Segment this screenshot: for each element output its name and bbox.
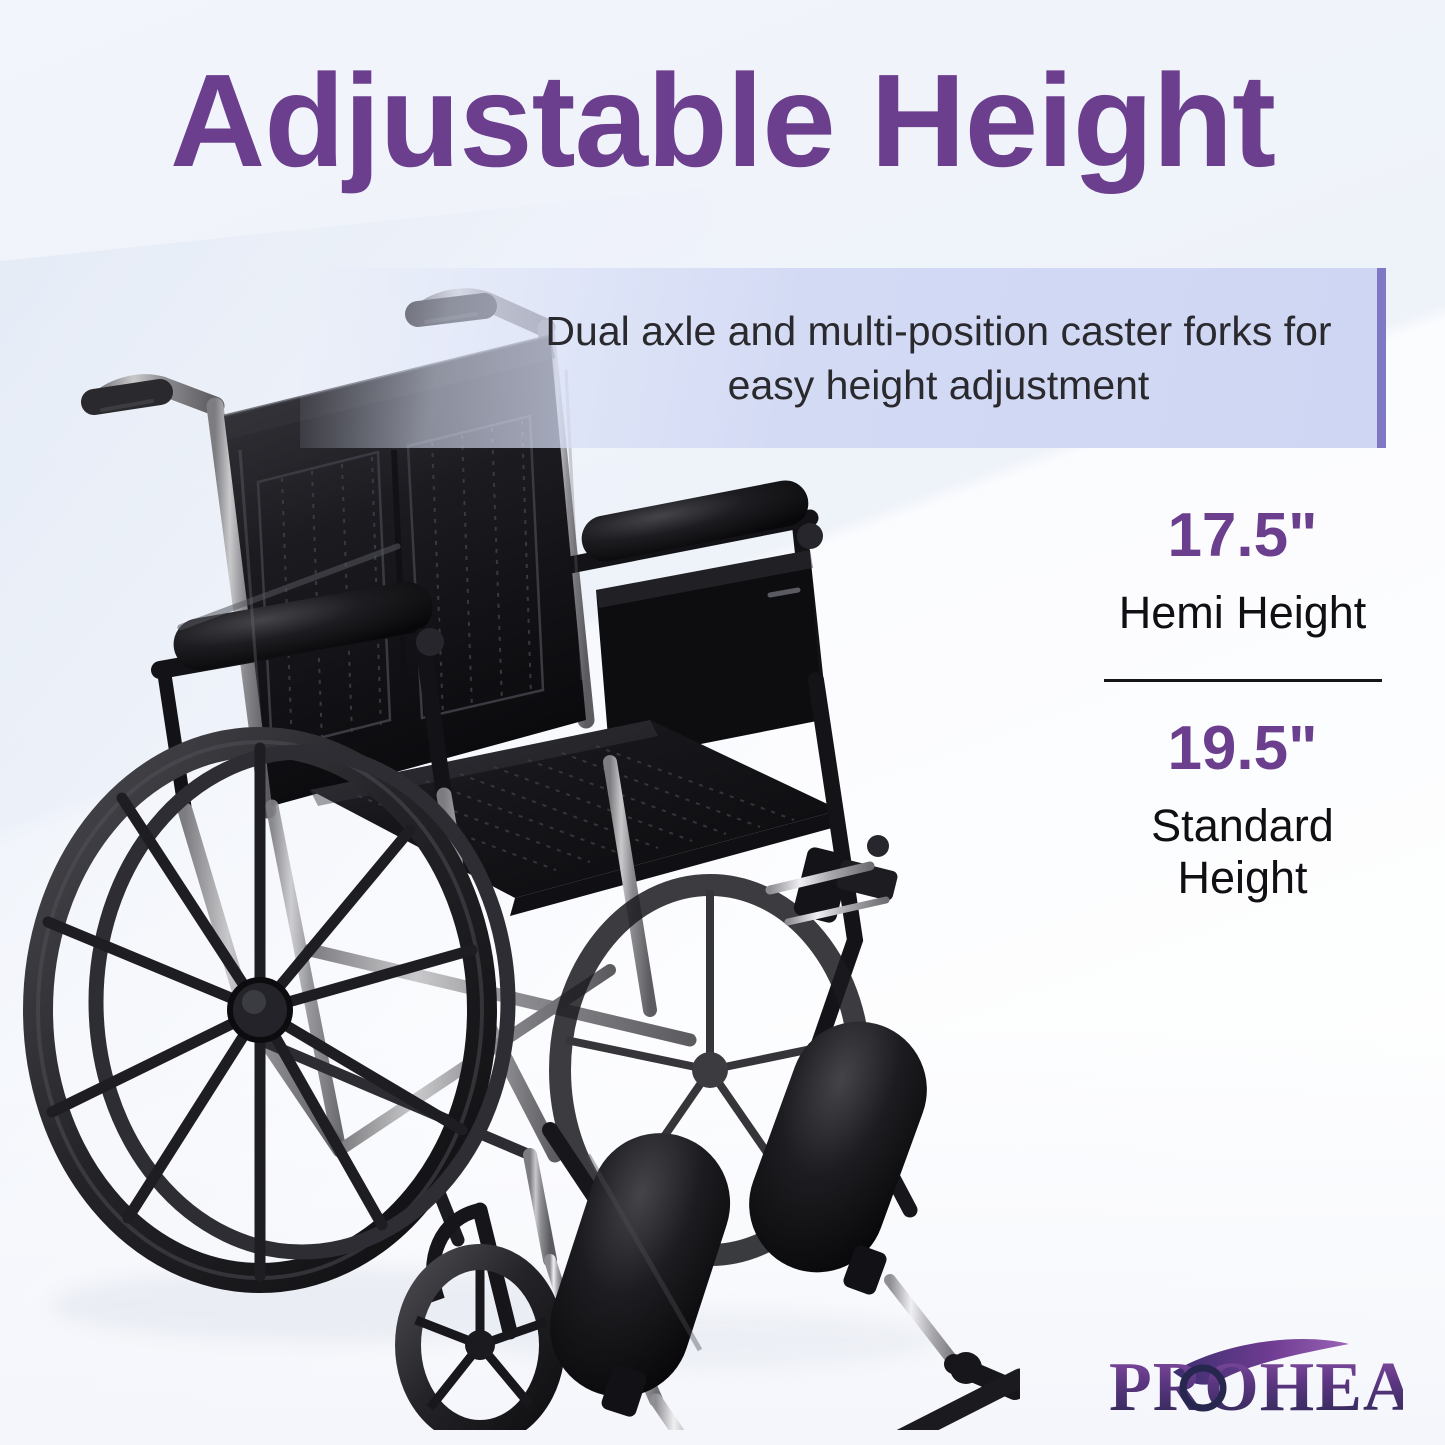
feature-banner-text: Dual axle and multi-position caster fork… [524, 304, 1354, 412]
armrest-right [570, 476, 823, 762]
spec-value-standard: 19.5" [1070, 718, 1415, 780]
push-handle-left [94, 384, 215, 410]
proheal-logo-svg: PROHEAL [1103, 1336, 1403, 1428]
brand-logo: PROHEAL [1103, 1336, 1403, 1428]
logo-wordmark: PROHEAL [1109, 1349, 1403, 1426]
spec-item-standard: 19.5" Standard Height [1070, 718, 1415, 904]
spec-label-hemi: Hemi Height [1070, 587, 1415, 639]
spec-list: 17.5" Hemi Height 19.5" Standard Height [1070, 505, 1415, 905]
spec-label-standard: Standard Height [1070, 800, 1415, 904]
spec-label-standard-line2: Height [1070, 852, 1415, 904]
spec-value-hemi: 17.5" [1070, 505, 1415, 567]
feature-banner: Dual axle and multi-position caster fork… [300, 268, 1386, 448]
armrest-pad-right [578, 476, 813, 565]
page-title: Adjustable Height [0, 52, 1445, 191]
spec-divider [1104, 679, 1382, 682]
infographic-canvas: Adjustable Height Dual axle and multi-po… [0, 0, 1445, 1445]
spec-label-standard-line1: Standard [1070, 800, 1415, 852]
spec-item-hemi: 17.5" Hemi Height [1070, 505, 1415, 639]
